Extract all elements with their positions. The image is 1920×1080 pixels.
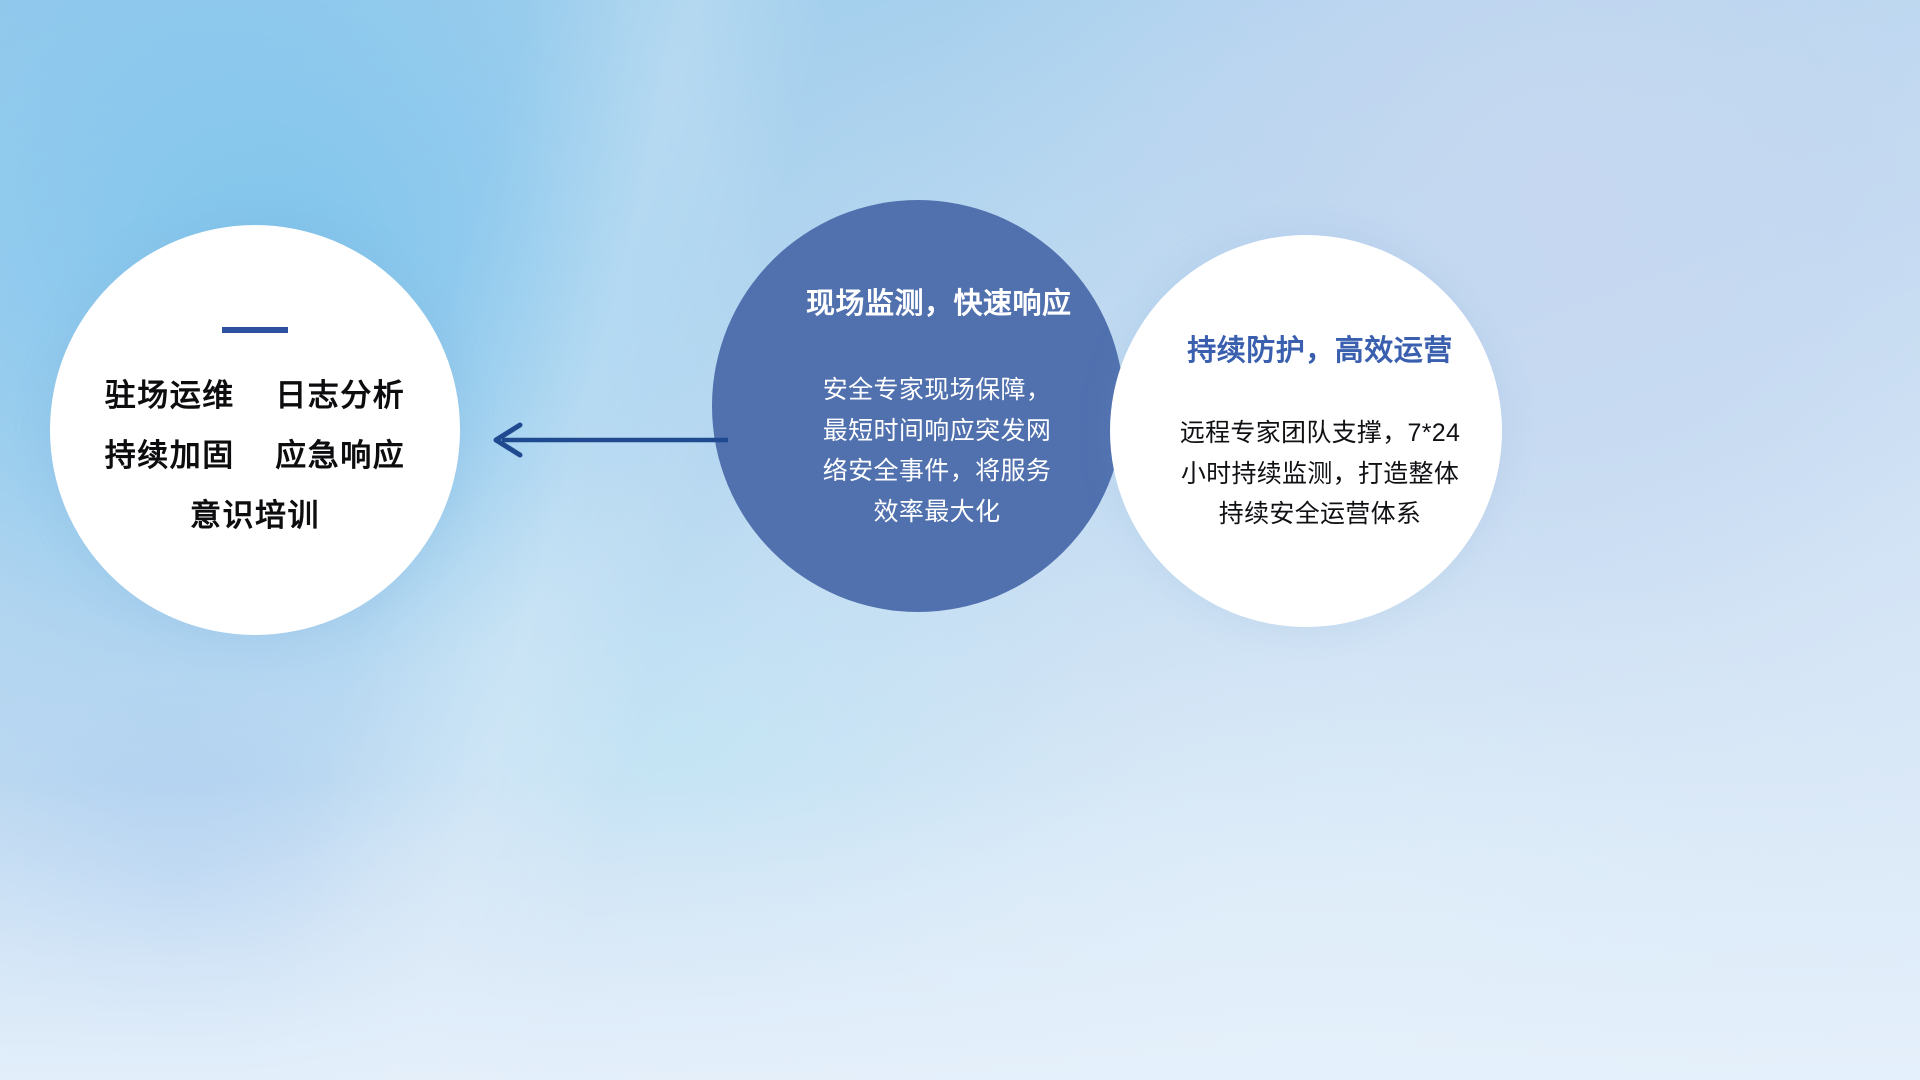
body-line: 小时持续监测，打造整体 [1169,454,1471,495]
body-line: 安全专家现场保障， [806,370,1068,411]
list-item: 驻场运维 日志分析 [105,379,405,413]
list-item: 持续加固 应急响应 [105,439,405,473]
body-line: 持续安全运营体系 [1169,494,1471,535]
list-item: 意识培训 [105,499,405,533]
slide-canvas: 驻场运维 日志分析 持续加固 应急响应 意识培训 现场监测，快速响应 安全专家现… [0,0,1920,1080]
horizontal-dash-icon [222,327,288,333]
capability-list: 驻场运维 日志分析 持续加固 应急响应 意识培训 [105,379,405,533]
background-bottom-fade [0,780,1920,1080]
onsite-monitoring-content: 现场监测，快速响应 安全专家现场保障， 最短时间响应突发网 络安全事件，将服务 … [768,280,1068,532]
continuous-protection-body: 远程专家团队支撑，7*24 小时持续监测，打造整体 持续安全运营体系 [1169,413,1471,535]
arrow-left-icon [480,405,730,475]
body-line: 效率最大化 [806,492,1068,533]
onsite-monitoring-title: 现场监测，快速响应 [806,280,1068,322]
body-line: 远程专家团队支撑，7*24 [1169,413,1471,454]
continuous-protection-content: 持续防护，高效运营 远程专家团队支撑，7*24 小时持续监测，打造整体 持续安全… [1141,327,1471,535]
continuous-protection-title: 持续防护，高效运营 [1169,327,1471,369]
body-line: 最短时间响应突发网 [806,411,1068,452]
capabilities-circle: 驻场运维 日志分析 持续加固 应急响应 意识培训 [50,225,460,635]
body-line: 络安全事件，将服务 [806,451,1068,492]
continuous-protection-circle: 持续防护，高效运营 远程专家团队支撑，7*24 小时持续监测，打造整体 持续安全… [1110,235,1502,627]
onsite-monitoring-body: 安全专家现场保障， 最短时间响应突发网 络安全事件，将服务 效率最大化 [806,370,1068,532]
onsite-monitoring-circle: 现场监测，快速响应 安全专家现场保障， 最短时间响应突发网 络安全事件，将服务 … [712,200,1124,612]
